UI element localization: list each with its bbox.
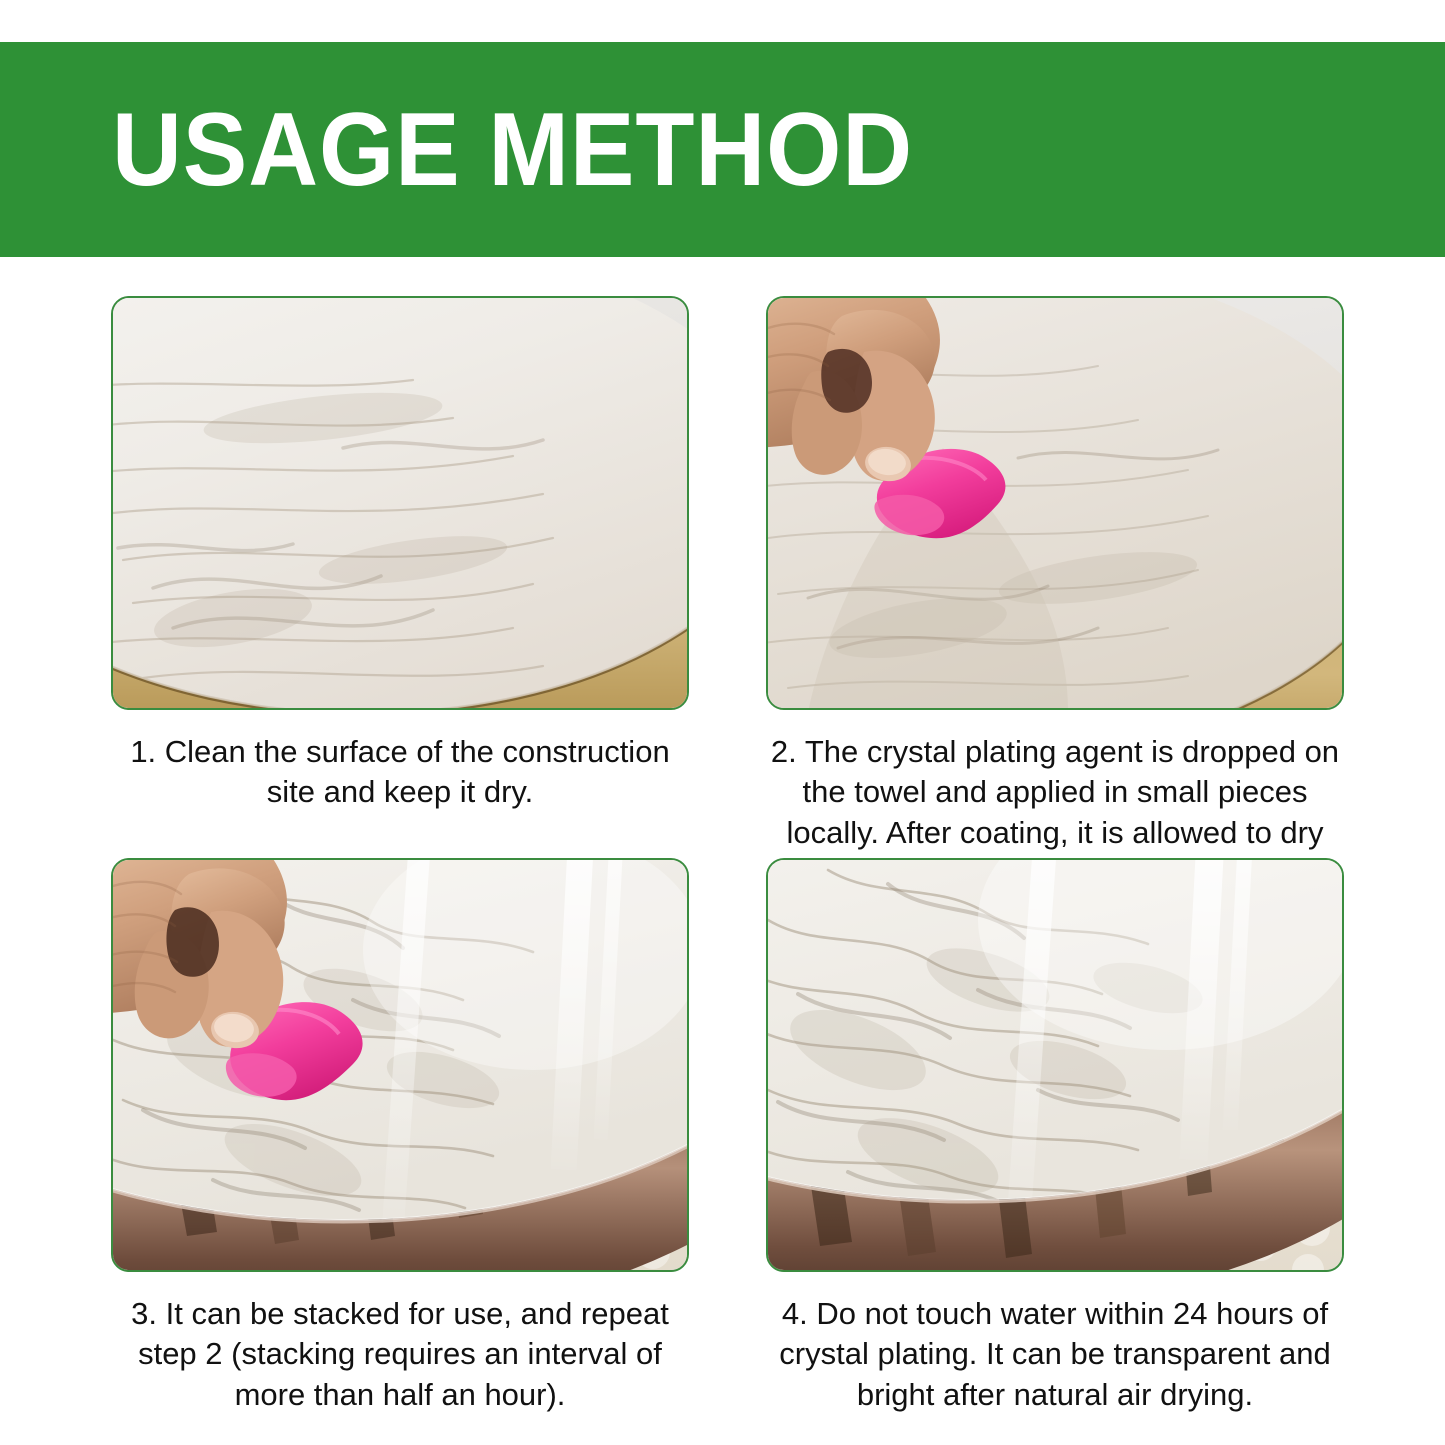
step-1-caption: 1. Clean the surface of the construction… [111, 732, 689, 813]
step-3-photo [111, 858, 689, 1272]
step-card-3: 3. It can be stacked for use, and repeat… [111, 858, 689, 1415]
step-4-caption: 4. Do not touch water within 24 hours of… [757, 1294, 1353, 1415]
steps-grid: 1. Clean the surface of the construction… [0, 257, 1445, 1445]
step-2-photo [766, 296, 1344, 710]
step-card-4: 4. Do not touch water within 24 hours of… [766, 858, 1344, 1415]
step-card-1: 1. Clean the surface of the construction… [111, 296, 689, 813]
glossy-marble-result-illustration [768, 860, 1342, 1270]
header-banner: USAGE METHOD [0, 42, 1445, 257]
step-4-photo [766, 858, 1344, 1272]
marble-table-gold-illustration [113, 298, 687, 708]
step-card-2: 2. The crystal plating agent is dropped … [766, 296, 1344, 893]
hand-towel-glossy-marble-illustration [113, 860, 687, 1270]
hand-towel-marble-gold-illustration [768, 298, 1342, 708]
page-title: USAGE METHOD [112, 98, 913, 202]
step-1-photo [111, 296, 689, 710]
step-3-caption: 3. It can be stacked for use, and repeat… [111, 1294, 689, 1415]
